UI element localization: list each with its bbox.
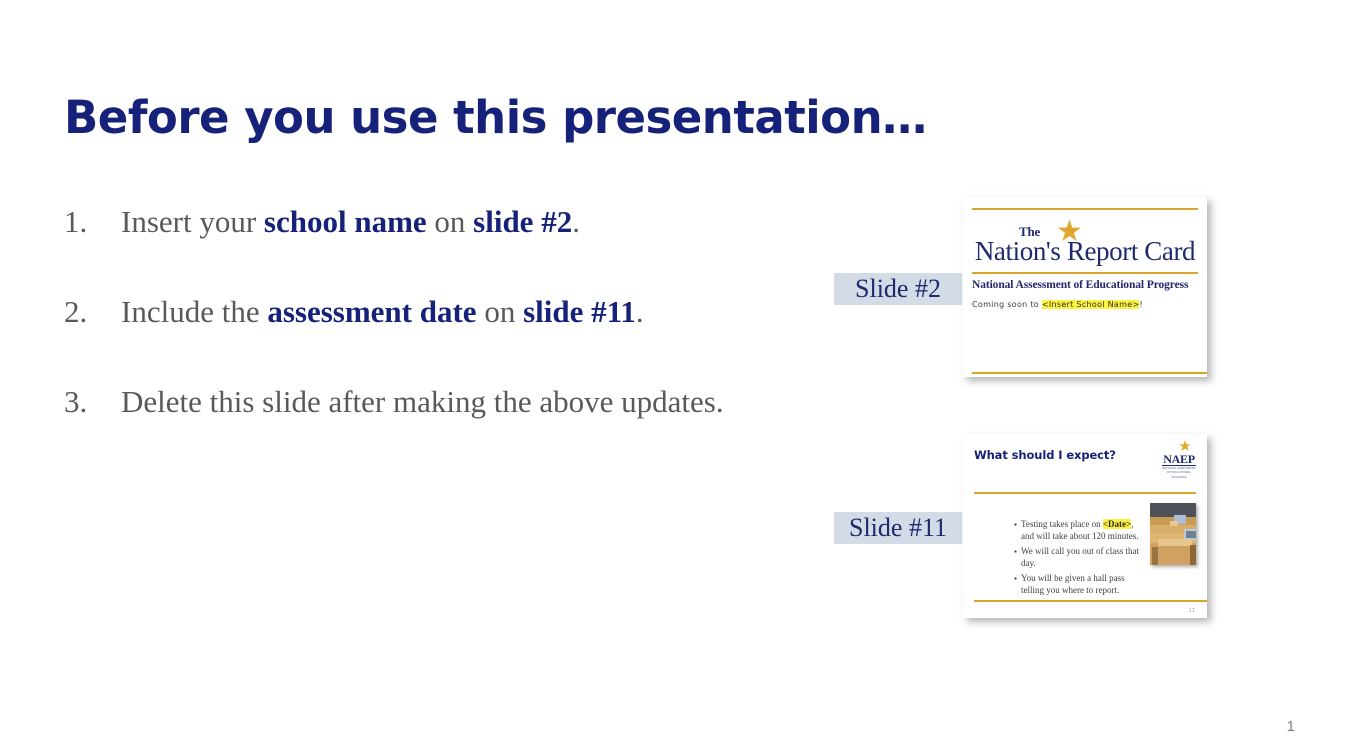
- divider-middle: [972, 272, 1198, 274]
- list-item-number: 3.: [64, 378, 121, 425]
- divider-bottom: [974, 600, 1207, 602]
- naep-logo: ★ NAEP NATIONAL ASSESSMENT OF EDUCATIONA…: [1162, 442, 1196, 479]
- bullet-item: Testing takes place on <Date>, and will …: [1014, 519, 1144, 542]
- slide-11-thumbnail[interactable]: What should I expect? ★ NAEP NATIONAL AS…: [963, 434, 1207, 618]
- slide-11-label: Slide #11: [834, 512, 962, 544]
- list-item-number: 2.: [64, 288, 121, 335]
- school-name-placeholder: <Insert School Name>: [1042, 300, 1140, 309]
- coming-soon-suffix: !: [1139, 300, 1143, 309]
- divider-top: [972, 208, 1198, 210]
- naep-sub-line-3: PROGRESS: [1162, 476, 1196, 479]
- classroom-laptops-photo: [1150, 503, 1196, 565]
- logo-main-text: Nation's Report Card: [972, 236, 1198, 266]
- list-item-text: Include the assessment date on slide #11…: [121, 288, 824, 335]
- star-icon: ★: [1168, 442, 1202, 453]
- naep-subtitle: National Assessment of Educational Progr…: [972, 279, 1198, 291]
- coming-soon-line: Coming soon to <Insert School Name>!: [972, 300, 1198, 309]
- list-item-text: Delete this slide after making the above…: [121, 378, 824, 425]
- list-item: 3. Delete this slide after making the ab…: [64, 378, 824, 425]
- bullet-list: Testing takes place on <Date>, and will …: [974, 519, 1144, 600]
- list-item: 1. Insert your school name on slide #2.: [64, 198, 824, 245]
- bullet-item: You will be given a hall pass telling yo…: [1014, 573, 1144, 596]
- coming-soon-prefix: Coming soon to: [972, 300, 1042, 309]
- bullet-item: We will call you out of class that day.: [1014, 546, 1144, 569]
- instructions-list: 1. Insert your school name on slide #2. …: [64, 198, 824, 425]
- slide-page-number: 1: [1287, 718, 1295, 735]
- thumbnail-header: What should I expect? ★ NAEP NATIONAL AS…: [974, 434, 1196, 485]
- naep-sub-line-2: OF EDUCATIONAL: [1162, 471, 1196, 474]
- slide-2-thumbnail[interactable]: The ★ Nation's Report Card National Asse…: [963, 197, 1207, 377]
- list-item-number: 1.: [64, 198, 121, 245]
- list-item: 2. Include the assessment date on slide …: [64, 288, 824, 335]
- naep-sub-line-1: NATIONAL ASSESSMENT: [1162, 467, 1196, 470]
- list-item-text: Insert your school name on slide #2.: [121, 198, 824, 245]
- thumbnail-title: What should I expect?: [974, 448, 1116, 462]
- nations-report-card-logo: The ★ Nation's Report Card: [972, 224, 1198, 264]
- divider-header: [974, 492, 1196, 494]
- thumbnail-page-number: 11: [1189, 608, 1195, 614]
- page-title: Before you use this presentation…: [64, 90, 927, 146]
- divider-bottom: [972, 372, 1207, 374]
- classroom-photo-graphic: [1150, 503, 1196, 565]
- slide-2-label: Slide #2: [834, 273, 962, 305]
